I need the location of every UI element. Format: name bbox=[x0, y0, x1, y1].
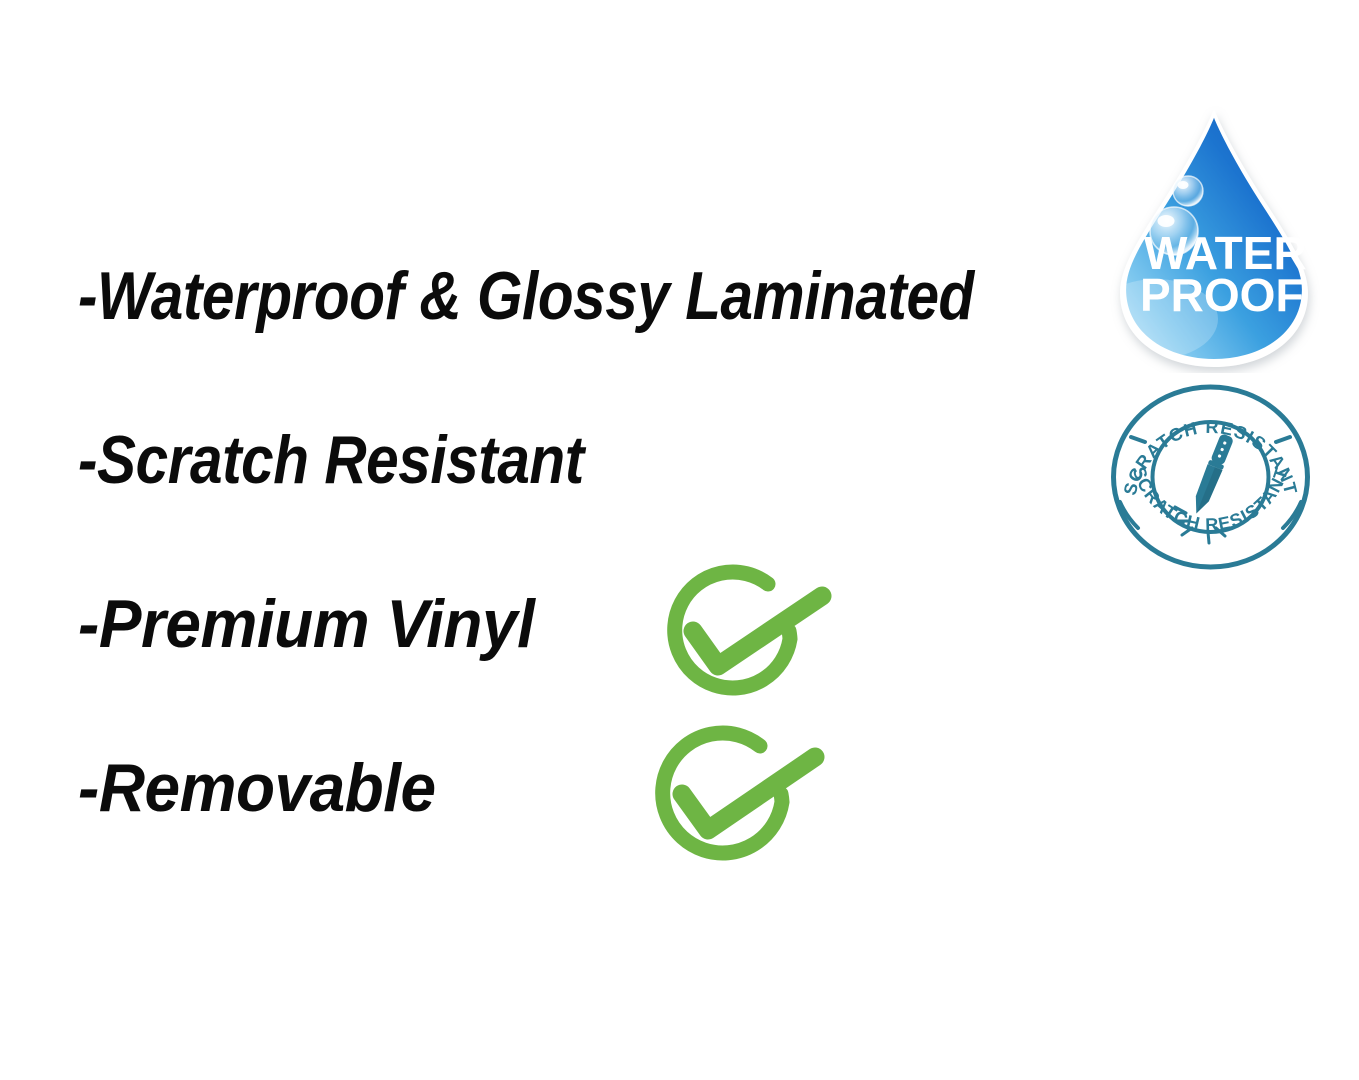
scratch-resistant-badge: SCRATCH RESISTANT SCRATCH RESISTANT bbox=[1108, 382, 1313, 572]
feature-item-premium-vinyl: -Premium Vinyl bbox=[78, 590, 534, 658]
stamp-tick-upper-left bbox=[1131, 437, 1145, 442]
feature-item-scratch-resistant: -Scratch Resistant bbox=[78, 426, 584, 494]
check-mark bbox=[682, 757, 815, 830]
knife-icon bbox=[1189, 433, 1235, 517]
waterproof-badge: WATER PROOF bbox=[1108, 103, 1320, 373]
feature-item-waterproof-glossy-laminated: -Waterproof & Glossy Laminated bbox=[78, 262, 974, 330]
water-bubble-small bbox=[1173, 176, 1203, 206]
check-mark bbox=[693, 596, 822, 666]
feature-list-graphic: -Waterproof & Glossy Laminated -Scratch … bbox=[0, 0, 1359, 1080]
waterproof-label-line2: PROOF bbox=[1140, 269, 1304, 321]
check-icon-premium-vinyl bbox=[642, 562, 842, 717]
stamp-tick-upper-right bbox=[1276, 437, 1290, 442]
check-icon-removable bbox=[630, 722, 835, 882]
feature-item-removable: -Removable bbox=[78, 754, 436, 822]
